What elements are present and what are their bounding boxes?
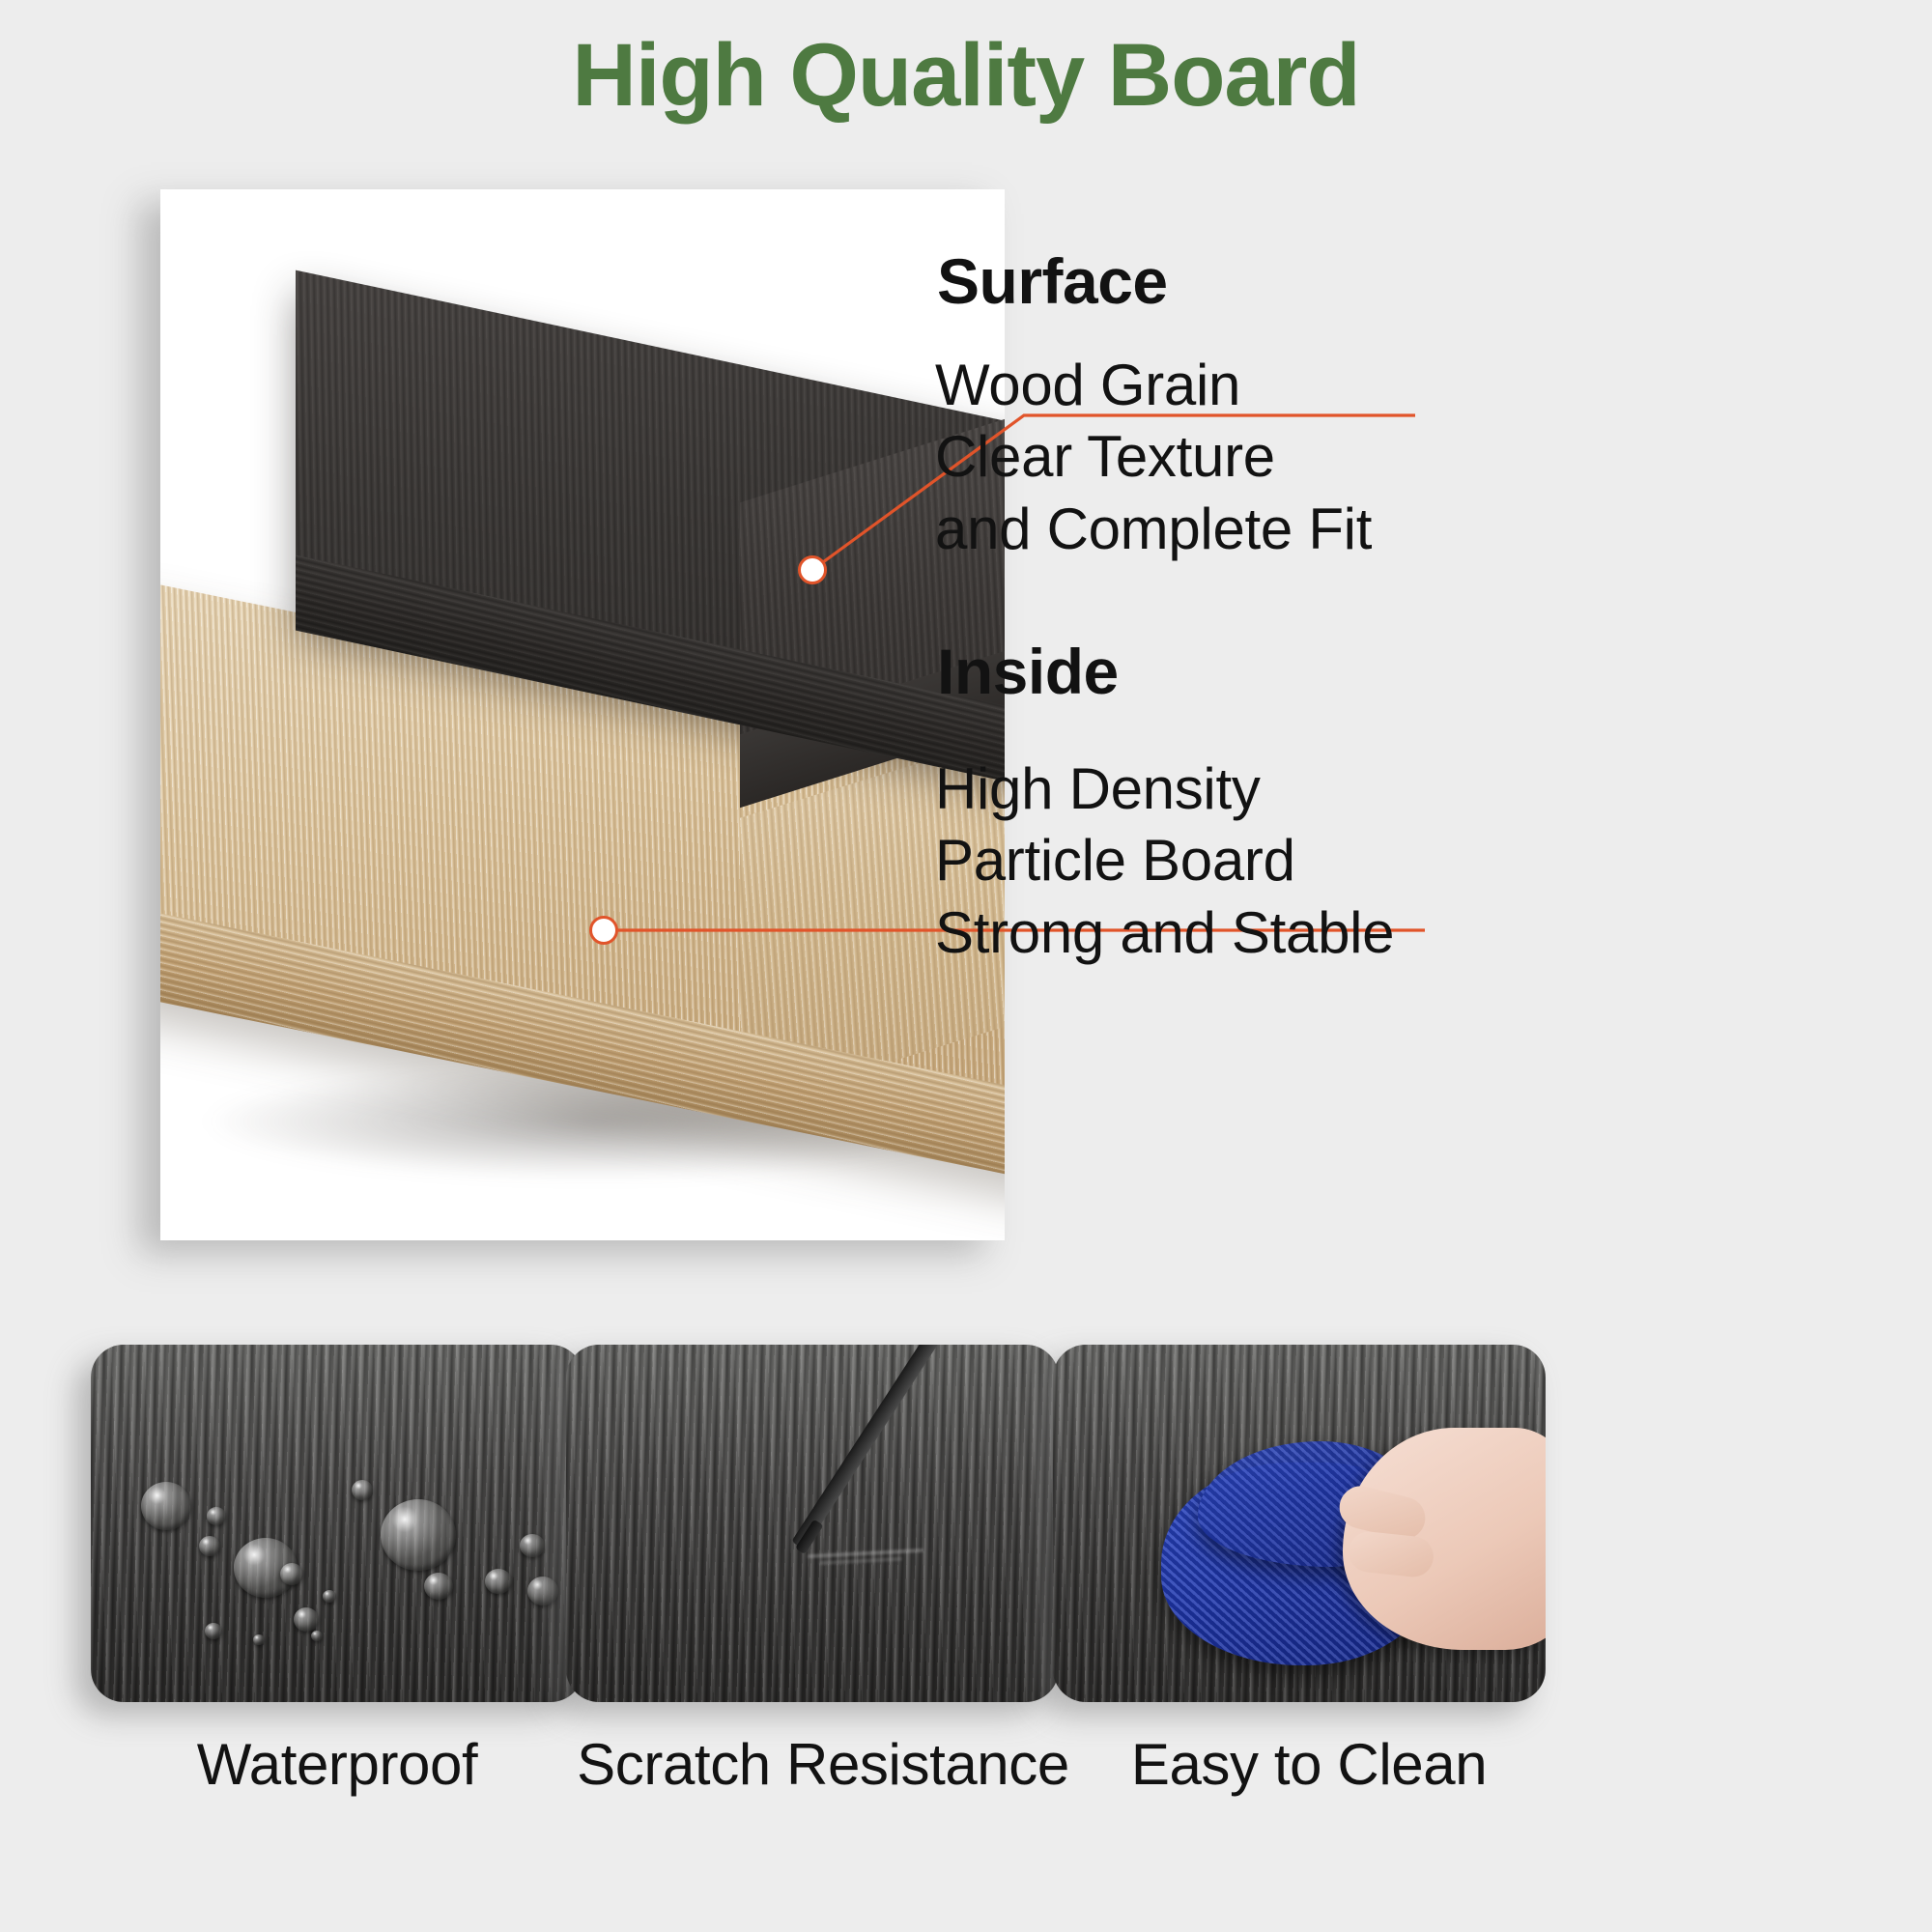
page-title: High Quality Board <box>0 27 1932 125</box>
inside-line-3: Strong and Stable <box>935 897 1394 969</box>
surface-marker-dot[interactable] <box>798 555 827 584</box>
feature-label: Easy to Clean <box>1063 1731 1555 1798</box>
surface-heading: Surface <box>937 249 1168 313</box>
inside-line-2: Particle Board <box>935 825 1394 896</box>
cloth-wipe-icon <box>1053 1345 1546 1702</box>
feature-card-row: Waterproof Scratch Resistance Easy to Cl… <box>0 1345 1932 1886</box>
surface-description: Wood Grain Clear Texture and Complete Fi… <box>935 350 1372 565</box>
feature-card-easy-to-clean[interactable]: Easy to Clean <box>1053 1345 1546 1702</box>
surface-line-3: and Complete Fit <box>935 494 1372 565</box>
feature-card-scratch-resistance[interactable]: Scratch Resistance <box>566 1345 1059 1702</box>
surface-line-1: Wood Grain <box>935 350 1372 421</box>
inside-line-1: High Density <box>935 753 1394 825</box>
inside-marker-dot[interactable] <box>589 916 618 945</box>
product-photo <box>160 189 1005 1240</box>
surface-line-2: Clear Texture <box>935 421 1372 493</box>
inside-heading: Inside <box>937 639 1119 703</box>
feature-label: Waterproof <box>91 1731 583 1798</box>
feature-label: Scratch Resistance <box>553 1731 1094 1798</box>
feature-card-waterproof[interactable]: Waterproof <box>91 1345 583 1702</box>
water-drops-icon <box>91 1345 583 1702</box>
infographic-page: High Quality Board Surface Wood Grain Cl… <box>0 0 1932 1932</box>
needle-scratch-icon <box>566 1345 1059 1702</box>
product-image-card <box>160 189 1005 1240</box>
inside-description: High Density Particle Board Strong and S… <box>935 753 1394 969</box>
